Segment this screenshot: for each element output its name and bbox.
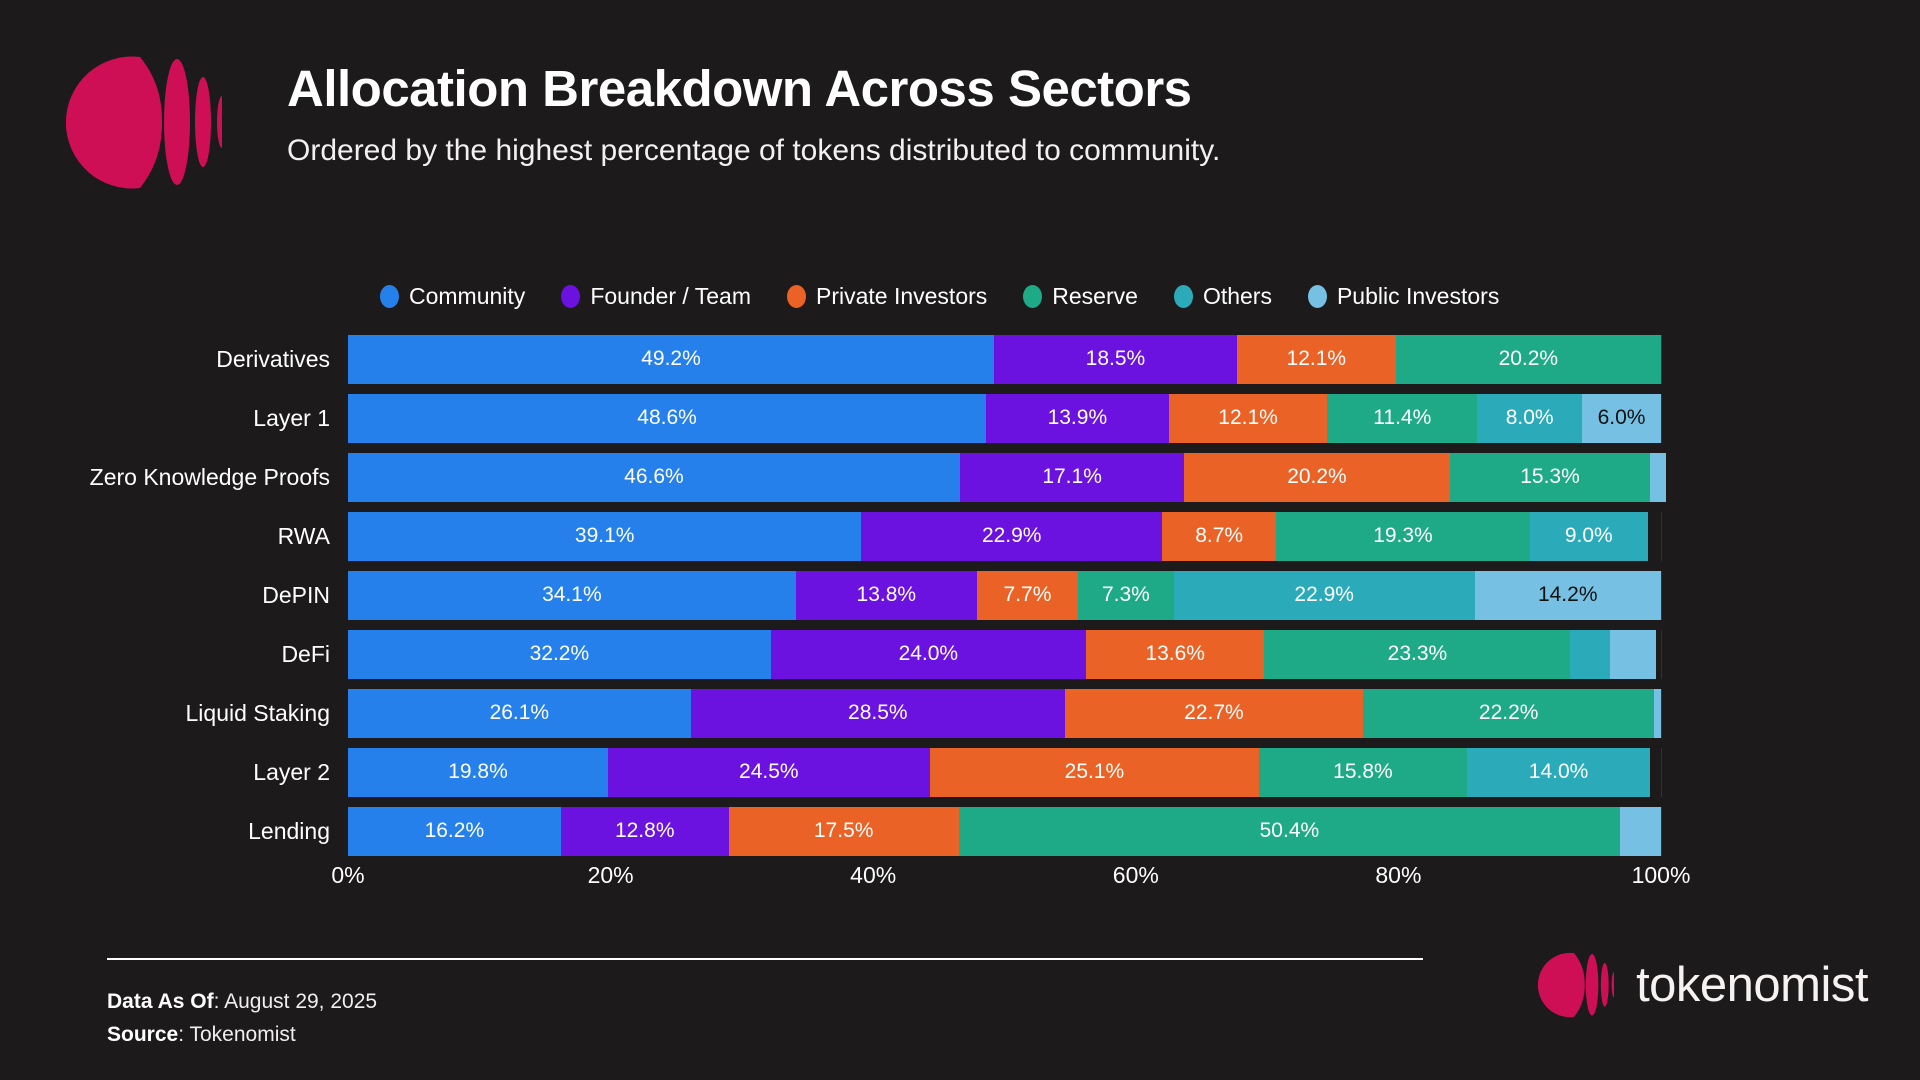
bar-segment[interactable]: 20.2%	[1396, 335, 1661, 384]
data-as-of-value: : August 29, 2025	[214, 990, 377, 1013]
legend-swatch-icon	[561, 285, 580, 308]
bar-segment[interactable]	[1610, 630, 1656, 679]
bar-segment[interactable]: 28.5%	[691, 689, 1065, 738]
bar-segment-value: 12.1%	[1218, 406, 1278, 430]
chart-row: Liquid Staking26.1%28.5%22.7%22.2%	[0, 684, 1920, 742]
category-label: Lending	[0, 818, 348, 845]
legend-item-community[interactable]: Community	[380, 283, 525, 310]
category-label: Liquid Staking	[0, 700, 348, 727]
chart-page: Allocation Breakdown Across Sectors Orde…	[0, 0, 1920, 1080]
bar-segment-value: 16.2%	[425, 819, 485, 843]
stacked-bar[interactable]: 48.6%13.9%12.1%11.4%8.0%6.0%	[348, 394, 1661, 443]
bar-segment-value: 17.1%	[1042, 465, 1102, 489]
bar-segment-value: 26.1%	[490, 701, 550, 725]
bar-track: 32.2%24.0%13.6%23.3%	[348, 630, 1661, 679]
bar-segment[interactable]: 39.1%	[348, 512, 861, 561]
footer: Data As Of: August 29, 2025 Source: Toke…	[0, 940, 1920, 1080]
chart-row: Derivatives49.2%18.5%12.1%20.2%	[0, 330, 1920, 388]
bar-segment-value: 22.9%	[982, 524, 1042, 548]
source-line: Source: Tokenomist	[107, 1019, 377, 1052]
bar-segment-value: 25.1%	[1065, 760, 1125, 784]
x-axis-tick: 100%	[1632, 862, 1691, 889]
bar-segment-value: 20.2%	[1499, 347, 1559, 371]
source-value: : Tokenomist	[178, 1023, 296, 1046]
bar-segment[interactable]: 19.3%	[1276, 512, 1529, 561]
category-label: DeFi	[0, 641, 348, 668]
bar-track: 19.8%24.5%25.1%15.8%14.0%	[348, 748, 1661, 797]
x-axis-tick: 20%	[588, 862, 634, 889]
legend-label: Community	[409, 283, 525, 310]
bar-segment-value: 39.1%	[575, 524, 635, 548]
bar-segment-value: 22.7%	[1184, 701, 1244, 725]
data-as-of-line: Data As Of: August 29, 2025	[107, 986, 377, 1019]
bar-segment[interactable]	[1650, 453, 1666, 502]
category-label: Layer 2	[0, 759, 348, 786]
chart-row: Layer 148.6%13.9%12.1%11.4%8.0%6.0%	[0, 389, 1920, 447]
footer-divider	[107, 958, 1423, 960]
bar-segment-value: 49.2%	[641, 347, 701, 371]
stacked-bar[interactable]: 16.2%12.8%17.5%50.4%	[348, 807, 1661, 856]
source-label: Source	[107, 1023, 178, 1046]
bar-segment[interactable]: 16.2%	[348, 807, 561, 856]
bar-segment[interactable]: 22.2%	[1363, 689, 1654, 738]
bar-segment-value: 12.1%	[1287, 347, 1347, 371]
bar-segment-value: 46.6%	[624, 465, 684, 489]
bar-segment[interactable]: 19.8%	[348, 748, 608, 797]
category-label: Zero Knowledge Proofs	[0, 464, 348, 491]
bar-segment-value: 9.0%	[1565, 524, 1613, 548]
legend-swatch-icon	[1174, 285, 1193, 308]
stacked-bar[interactable]: 32.2%24.0%13.6%23.3%	[348, 630, 1656, 679]
chart-row: DeFi32.2%24.0%13.6%23.3%	[0, 625, 1920, 683]
stacked-bar-chart: Derivatives49.2%18.5%12.1%20.2%Layer 148…	[0, 330, 1920, 860]
gridline	[1661, 394, 1662, 443]
bar-track: 34.1%13.8%7.7%7.3%22.9%14.2%	[348, 571, 1661, 620]
bar-segment[interactable]: 14.0%	[1467, 748, 1651, 797]
legend-label: Reserve	[1052, 283, 1138, 310]
bar-segment[interactable]: 32.2%	[348, 630, 771, 679]
bar-segment-value: 14.0%	[1529, 760, 1589, 784]
bar-segment[interactable]: 49.2%	[348, 335, 994, 384]
category-label: DePIN	[0, 582, 348, 609]
bar-segment-value: 15.8%	[1333, 760, 1393, 784]
category-label: Derivatives	[0, 346, 348, 373]
bar-segment-value: 15.3%	[1520, 465, 1580, 489]
gridline	[1661, 512, 1662, 561]
bar-segment[interactable]: 17.5%	[729, 807, 959, 856]
bar-segment[interactable]: 7.7%	[977, 571, 1078, 620]
bar-segment[interactable]: 13.6%	[1086, 630, 1265, 679]
legend-label: Private Investors	[816, 283, 987, 310]
bar-segment[interactable]: 48.6%	[348, 394, 986, 443]
bar-segment-value: 24.5%	[739, 760, 799, 784]
bar-segment-value: 48.6%	[637, 406, 697, 430]
bar-segment[interactable]: 6.0%	[1582, 394, 1661, 443]
legend-swatch-icon	[380, 285, 399, 308]
header: Allocation Breakdown Across Sectors Orde…	[0, 0, 1920, 230]
chart-row: DePIN34.1%13.8%7.7%7.3%22.9%14.2%	[0, 566, 1920, 624]
gridline	[1661, 335, 1662, 384]
chart-row: Lending16.2%12.8%17.5%50.4%	[0, 802, 1920, 860]
footer-brand: tokenomist	[1536, 952, 1868, 1018]
bar-segment[interactable]	[1654, 689, 1661, 738]
x-axis-tick: 60%	[1113, 862, 1159, 889]
stacked-bar[interactable]: 26.1%28.5%22.7%22.2%	[348, 689, 1661, 738]
chart-row: RWA39.1%22.9%8.7%19.3%9.0%	[0, 507, 1920, 565]
stacked-bar[interactable]: 46.6%17.1%20.2%15.3%	[348, 453, 1666, 502]
chart-legend: CommunityFounder / TeamPrivate Investors…	[380, 283, 1499, 310]
bar-segment-value: 13.6%	[1145, 642, 1205, 666]
footer-meta: Data As Of: August 29, 2025 Source: Toke…	[107, 986, 377, 1051]
bar-segment[interactable]: 22.9%	[1174, 571, 1475, 620]
bar-segment-value: 22.2%	[1479, 701, 1539, 725]
bar-segment-value: 20.2%	[1287, 465, 1347, 489]
x-axis-tick: 80%	[1375, 862, 1421, 889]
page-title: Allocation Breakdown Across Sectors	[287, 62, 1220, 116]
bar-segment-value: 22.9%	[1294, 583, 1354, 607]
stacked-bar[interactable]: 34.1%13.8%7.7%7.3%22.9%14.2%	[348, 571, 1661, 620]
bar-track: 26.1%28.5%22.7%22.2%	[348, 689, 1661, 738]
bar-segment[interactable]: 13.8%	[796, 571, 977, 620]
bar-track: 39.1%22.9%8.7%19.3%9.0%	[348, 512, 1661, 561]
bar-segment[interactable]: 8.0%	[1477, 394, 1582, 443]
bar-segment[interactable]: 15.3%	[1450, 453, 1651, 502]
bar-segment[interactable]: 22.7%	[1065, 689, 1363, 738]
bar-segment[interactable]: 15.8%	[1259, 748, 1466, 797]
bar-segment[interactable]: 46.6%	[348, 453, 960, 502]
bar-segment[interactable]: 23.3%	[1264, 630, 1570, 679]
gridline	[1661, 807, 1662, 856]
bar-segment[interactable]: 26.1%	[348, 689, 691, 738]
gridline	[1661, 748, 1662, 797]
bar-segment-value: 7.7%	[1004, 583, 1052, 607]
legend-item-reserve[interactable]: Reserve	[1023, 283, 1138, 310]
bar-segment-value: 19.3%	[1373, 524, 1433, 548]
bar-segment[interactable]: 9.0%	[1530, 512, 1648, 561]
bar-segment-value: 7.3%	[1102, 583, 1150, 607]
bar-segment[interactable]: 12.1%	[1237, 335, 1396, 384]
bar-segment-value: 28.5%	[848, 701, 908, 725]
bar-segment[interactable]: 17.1%	[960, 453, 1185, 502]
stacked-bar[interactable]: 39.1%22.9%8.7%19.3%9.0%	[348, 512, 1648, 561]
legend-item-founder-team[interactable]: Founder / Team	[561, 283, 751, 310]
bar-segment[interactable]: 13.9%	[986, 394, 1169, 443]
bar-segment[interactable]: 14.2%	[1475, 571, 1661, 620]
x-axis-tick: 40%	[850, 862, 896, 889]
bar-segment[interactable]: 34.1%	[348, 571, 796, 620]
data-as-of-label: Data As Of	[107, 990, 214, 1013]
bar-segment-value: 13.9%	[1048, 406, 1108, 430]
legend-swatch-icon	[787, 285, 806, 308]
bar-segment[interactable]: 7.3%	[1078, 571, 1174, 620]
bar-segment[interactable]: 11.4%	[1327, 394, 1477, 443]
legend-label: Founder / Team	[590, 283, 751, 310]
chart-row: Zero Knowledge Proofs46.6%17.1%20.2%15.3…	[0, 448, 1920, 506]
bar-segment[interactable]: 12.8%	[561, 807, 729, 856]
bar-segment-value: 23.3%	[1388, 642, 1448, 666]
bar-track: 48.6%13.9%12.1%11.4%8.0%6.0%	[348, 394, 1661, 443]
bar-segment[interactable]: 24.5%	[608, 748, 930, 797]
bar-segment[interactable]: 50.4%	[959, 807, 1621, 856]
bar-segment[interactable]	[1570, 630, 1609, 679]
bar-segment-value: 14.2%	[1538, 583, 1598, 607]
bar-segment-value: 8.0%	[1506, 406, 1554, 430]
gridline	[1661, 571, 1662, 620]
bar-track: 46.6%17.1%20.2%15.3%	[348, 453, 1661, 502]
bar-segment-value: 19.8%	[448, 760, 508, 784]
bar-track: 49.2%18.5%12.1%20.2%	[348, 335, 1661, 384]
page-subtitle: Ordered by the highest percentage of tok…	[287, 134, 1220, 167]
bar-segment-value: 50.4%	[1260, 819, 1320, 843]
chart-row: Layer 219.8%24.5%25.1%15.8%14.0%	[0, 743, 1920, 801]
bar-segment-value: 34.1%	[542, 583, 602, 607]
bar-segment-value: 6.0%	[1598, 406, 1646, 430]
bar-segment-value: 13.8%	[857, 583, 917, 607]
bar-segment-value: 24.0%	[899, 642, 959, 666]
gridline	[1661, 689, 1662, 738]
category-label: Layer 1	[0, 405, 348, 432]
legend-label: Public Investors	[1337, 283, 1499, 310]
tokenomist-logo-icon	[1536, 952, 1614, 1018]
category-label: RWA	[0, 523, 348, 550]
bar-segment[interactable]	[1620, 807, 1661, 856]
bar-segment[interactable]: 24.0%	[771, 630, 1086, 679]
x-axis: 0%20%40%60%80%100%	[348, 862, 1661, 902]
bar-segment-value: 8.7%	[1195, 524, 1243, 548]
bar-segment-value: 17.5%	[814, 819, 874, 843]
bar-segment-value: 12.8%	[615, 819, 675, 843]
stacked-bar[interactable]: 19.8%24.5%25.1%15.8%14.0%	[348, 748, 1650, 797]
legend-item-public-investors[interactable]: Public Investors	[1308, 283, 1499, 310]
bar-segment-value: 11.4%	[1373, 406, 1431, 430]
bar-segment[interactable]: 22.9%	[861, 512, 1162, 561]
bar-segment[interactable]: 20.2%	[1184, 453, 1449, 502]
bar-segment-value: 32.2%	[530, 642, 590, 666]
legend-item-others[interactable]: Others	[1174, 283, 1272, 310]
legend-swatch-icon	[1308, 285, 1327, 308]
bar-segment[interactable]: 18.5%	[994, 335, 1237, 384]
bar-segment[interactable]: 25.1%	[930, 748, 1260, 797]
legend-item-private-investors[interactable]: Private Investors	[787, 283, 987, 310]
gridline	[1661, 630, 1662, 679]
legend-swatch-icon	[1023, 285, 1042, 308]
x-axis-tick: 0%	[331, 862, 364, 889]
title-block: Allocation Breakdown Across Sectors Orde…	[287, 62, 1220, 167]
bar-segment[interactable]: 8.7%	[1162, 512, 1276, 561]
bar-segment-value: 18.5%	[1086, 347, 1146, 371]
stacked-bar[interactable]: 49.2%18.5%12.1%20.2%	[348, 335, 1661, 384]
tokenomist-wordmark: tokenomist	[1636, 957, 1868, 1013]
tokenomist-logo-icon	[62, 55, 222, 190]
bar-track: 16.2%12.8%17.5%50.4%	[348, 807, 1661, 856]
bar-segment[interactable]: 12.1%	[1169, 394, 1328, 443]
legend-label: Others	[1203, 283, 1272, 310]
